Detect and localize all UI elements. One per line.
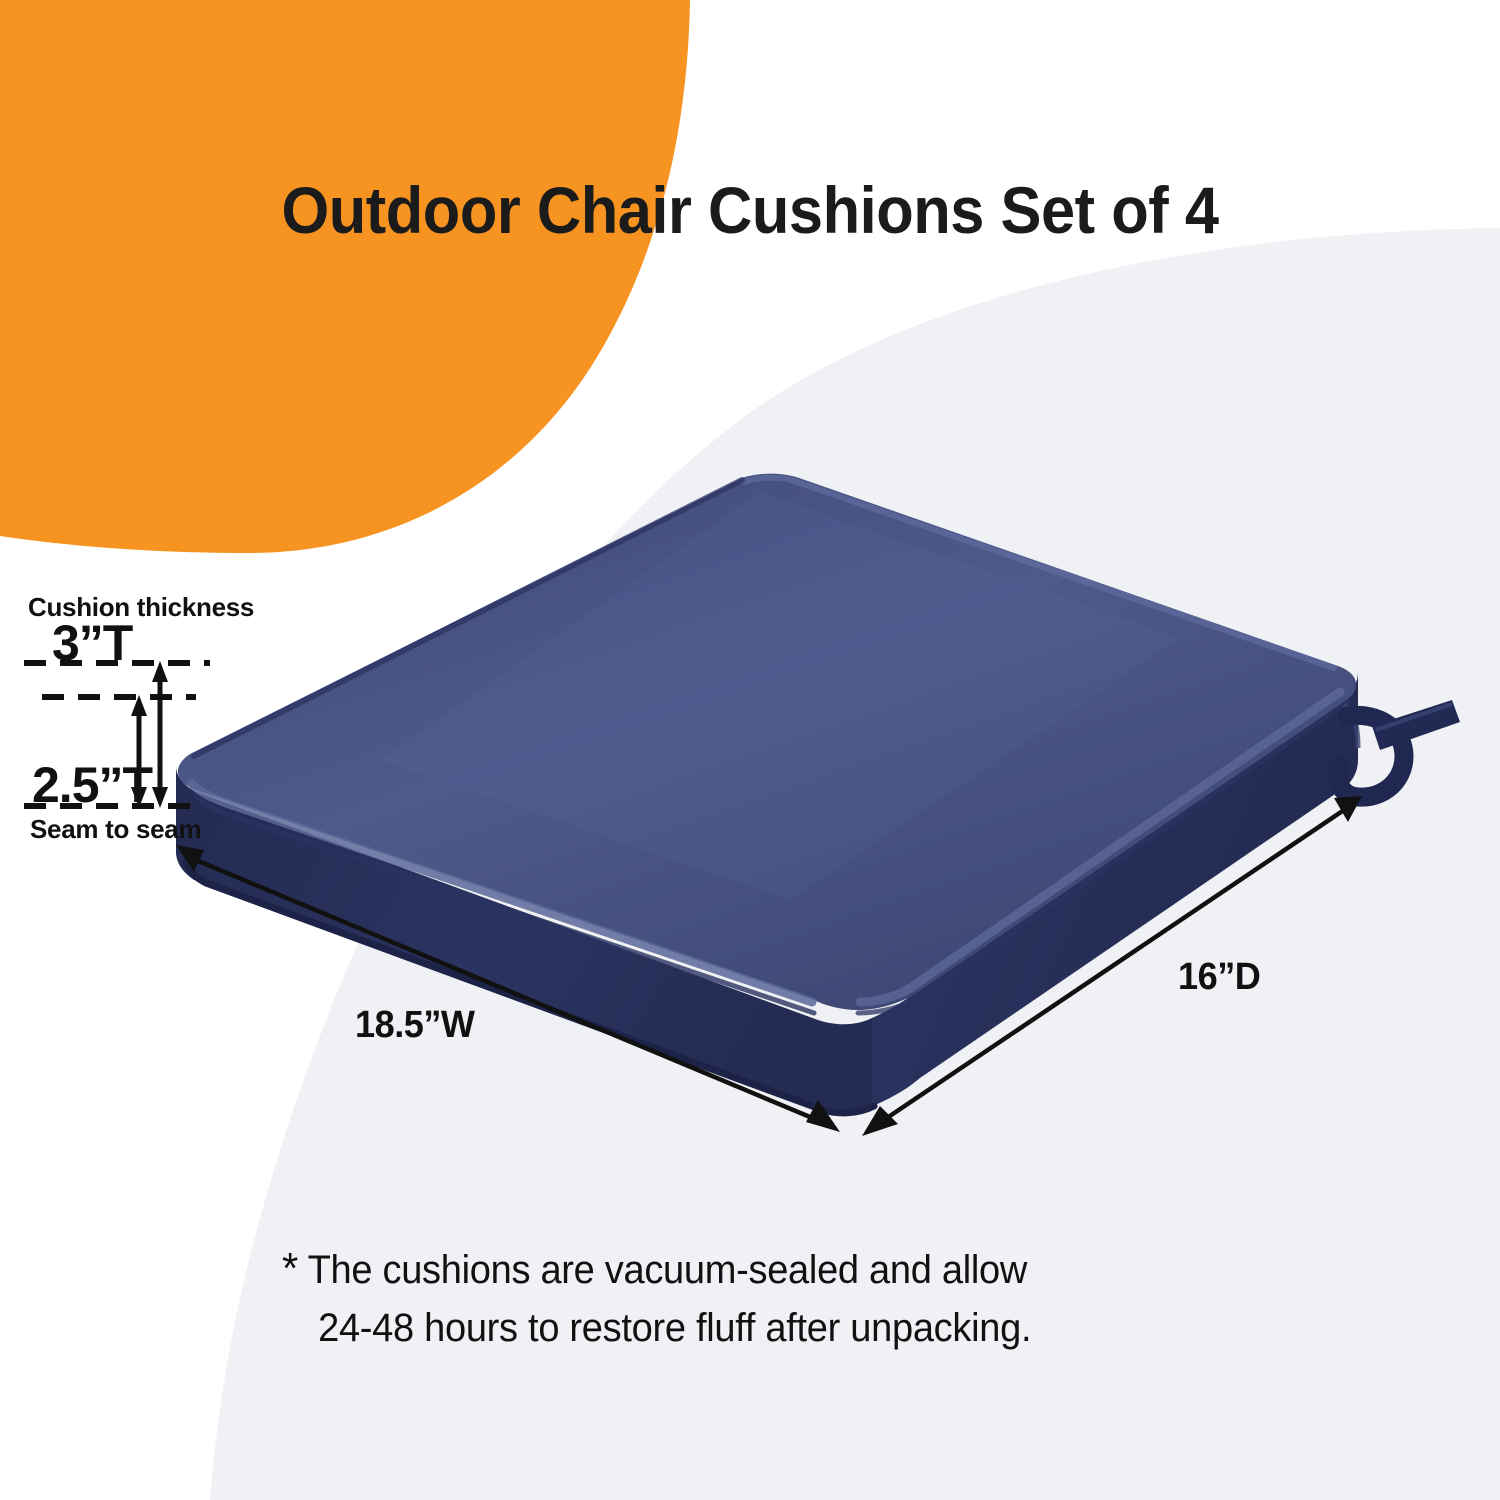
label-thickness-value: 3”T	[52, 614, 132, 672]
page-title: Outdoor Chair Cushions Set of 4	[53, 172, 1448, 248]
arrowhead-depth-start	[1334, 796, 1362, 822]
label-seam-to-seam-value: 2.5”T	[32, 756, 152, 814]
infographic-canvas: Outdoor Chair Cushions Set of 4 Cushion …	[0, 0, 1500, 1500]
footnote-asterisk: *	[282, 1244, 298, 1293]
footnote-line-1: The cushions are vacuum-sealed and allow	[308, 1248, 1027, 1292]
label-seam-to-seam-caption: Seam to seam	[30, 814, 201, 845]
label-depth-value: 16”D	[1178, 956, 1260, 999]
footnote-line-2: 24-48 hours to restore fluff after unpac…	[282, 1300, 1232, 1357]
label-width-value: 18.5”W	[355, 1004, 475, 1047]
arrow-thickness-3in	[152, 661, 168, 808]
footnote: * The cushions are vacuum-sealed and all…	[282, 1238, 1232, 1357]
